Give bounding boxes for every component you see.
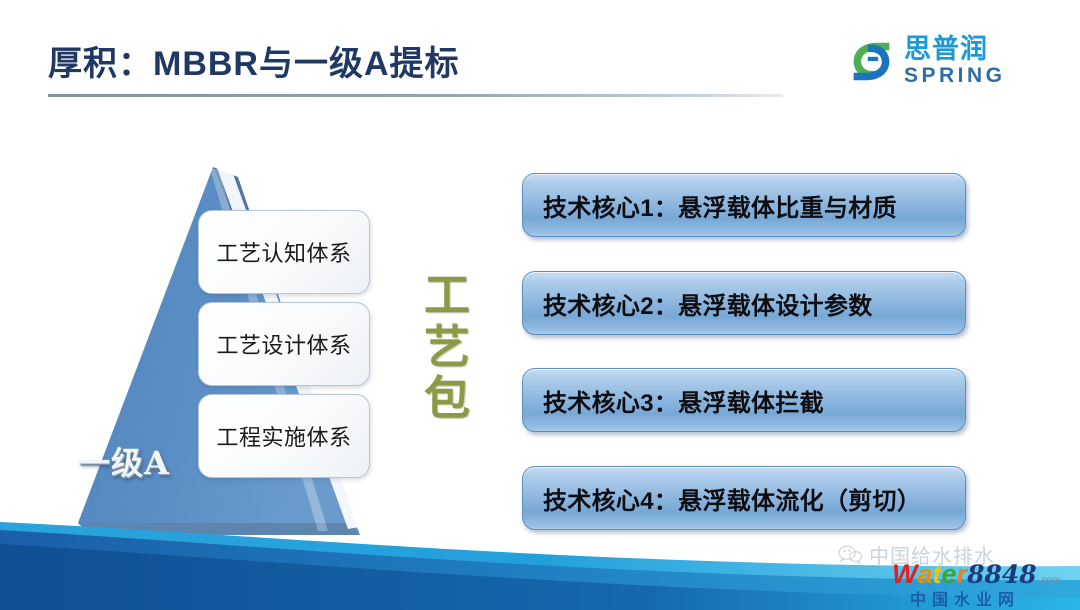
- presentation-slide: 厚积：MBBR与一级A提标 思普润 SPRING: [0, 0, 1080, 610]
- pyramid-base-label: 一级A: [78, 438, 170, 484]
- brand-text: 思普润 SPRING: [904, 36, 1006, 86]
- core-box-1[interactable]: 技术核心1：悬浮载体比重与材质: [522, 173, 966, 237]
- core-box-3[interactable]: 技术核心3：悬浮载体拦截: [522, 368, 966, 432]
- pyramid-diagram: 工艺认知体系 工艺设计体系 工程实施体系 一级A: [60, 155, 420, 555]
- brand-name-cn: 思普润: [904, 36, 1006, 63]
- title-divider: [48, 94, 783, 97]
- watermark-site-cn: 中国水业网: [910, 586, 1020, 610]
- brand-logo: 思普润 SPRING: [848, 36, 1006, 86]
- pyramid-tier-2[interactable]: 工艺设计体系: [198, 302, 370, 386]
- core-box-3-label: 技术核心3：悬浮载体拦截: [543, 383, 824, 418]
- vertical-label-char-2: 艺: [415, 322, 479, 374]
- vertical-label-char-1: 工: [415, 270, 479, 322]
- core-box-2-label: 技术核心2：悬浮载体设计参数: [543, 286, 873, 321]
- pyramid-tier-3-label: 工程实施体系: [216, 420, 351, 452]
- wechat-icon: [838, 544, 864, 566]
- core-box-1-label: 技术核心1：悬浮载体比重与材质: [543, 188, 897, 223]
- core-box-2[interactable]: 技术核心2：悬浮载体设计参数: [522, 271, 966, 335]
- watermark: 中国给水排水 W a t e r 8848 .com 中国水业网: [838, 540, 1080, 610]
- watermark-site-tld: .com: [1039, 575, 1061, 586]
- vertical-label-process-package: 工 艺 包: [415, 270, 479, 425]
- brand-name-en: SPRING: [904, 65, 1006, 86]
- watermark-site-number: 8848: [967, 560, 1037, 589]
- pyramid-tier-2-label: 工艺设计体系: [216, 328, 351, 360]
- page-title: 厚积：MBBR与一级A提标: [48, 36, 460, 85]
- spring-logo-mark-icon: [848, 38, 895, 85]
- pyramid-tier-1-label: 工艺认知体系: [216, 236, 351, 268]
- pyramid-tier-1[interactable]: 工艺认知体系: [198, 210, 370, 294]
- pyramid-tier-3[interactable]: 工程实施体系: [198, 394, 370, 478]
- vertical-label-char-3: 包: [415, 373, 479, 425]
